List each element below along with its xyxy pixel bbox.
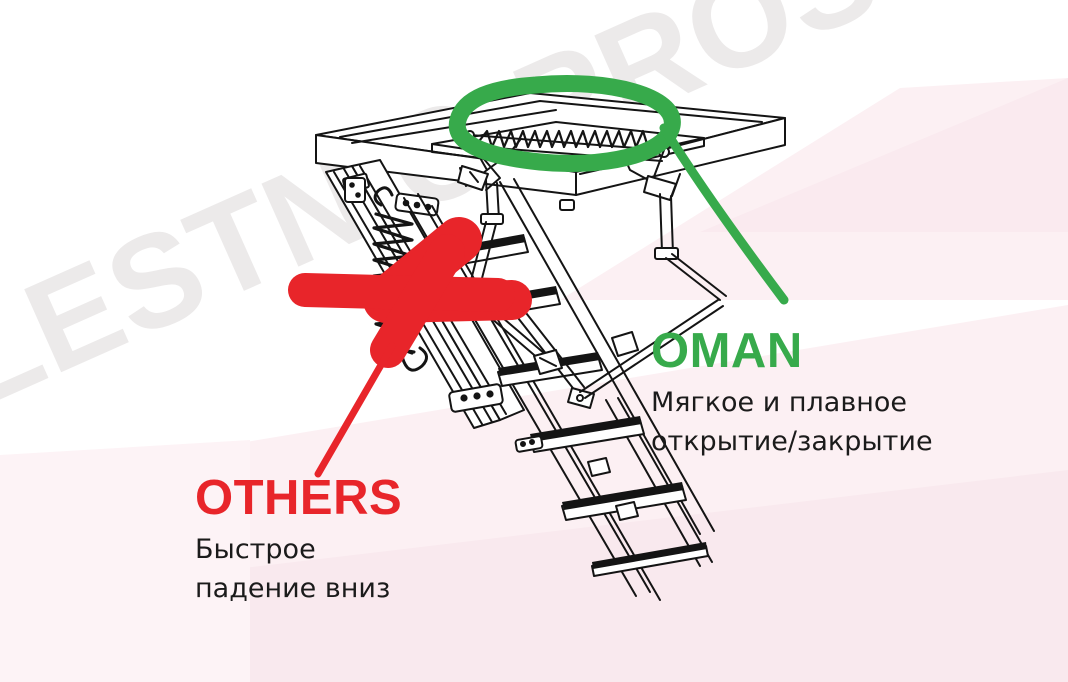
callout-oman: OMAN Мягкое и плавное открытие/закрытие: [651, 327, 933, 462]
others-headline: OTHERS: [195, 474, 402, 524]
others-subtitle-line2: падение вниз: [195, 569, 402, 608]
callout-labels: OMAN Мягкое и плавное открытие/закрытие …: [0, 0, 1068, 682]
illustration-canvas: LESTNIC-PROSTO.RU: [0, 0, 1068, 682]
callout-others: OTHERS Быстрое падение вниз: [195, 474, 402, 609]
oman-subtitle-line1: Мягкое и плавное: [651, 383, 933, 422]
oman-headline: OMAN: [651, 327, 933, 377]
others-subtitle-line1: Быстрое: [195, 530, 402, 569]
oman-subtitle-line2: открытие/закрытие: [651, 422, 933, 461]
